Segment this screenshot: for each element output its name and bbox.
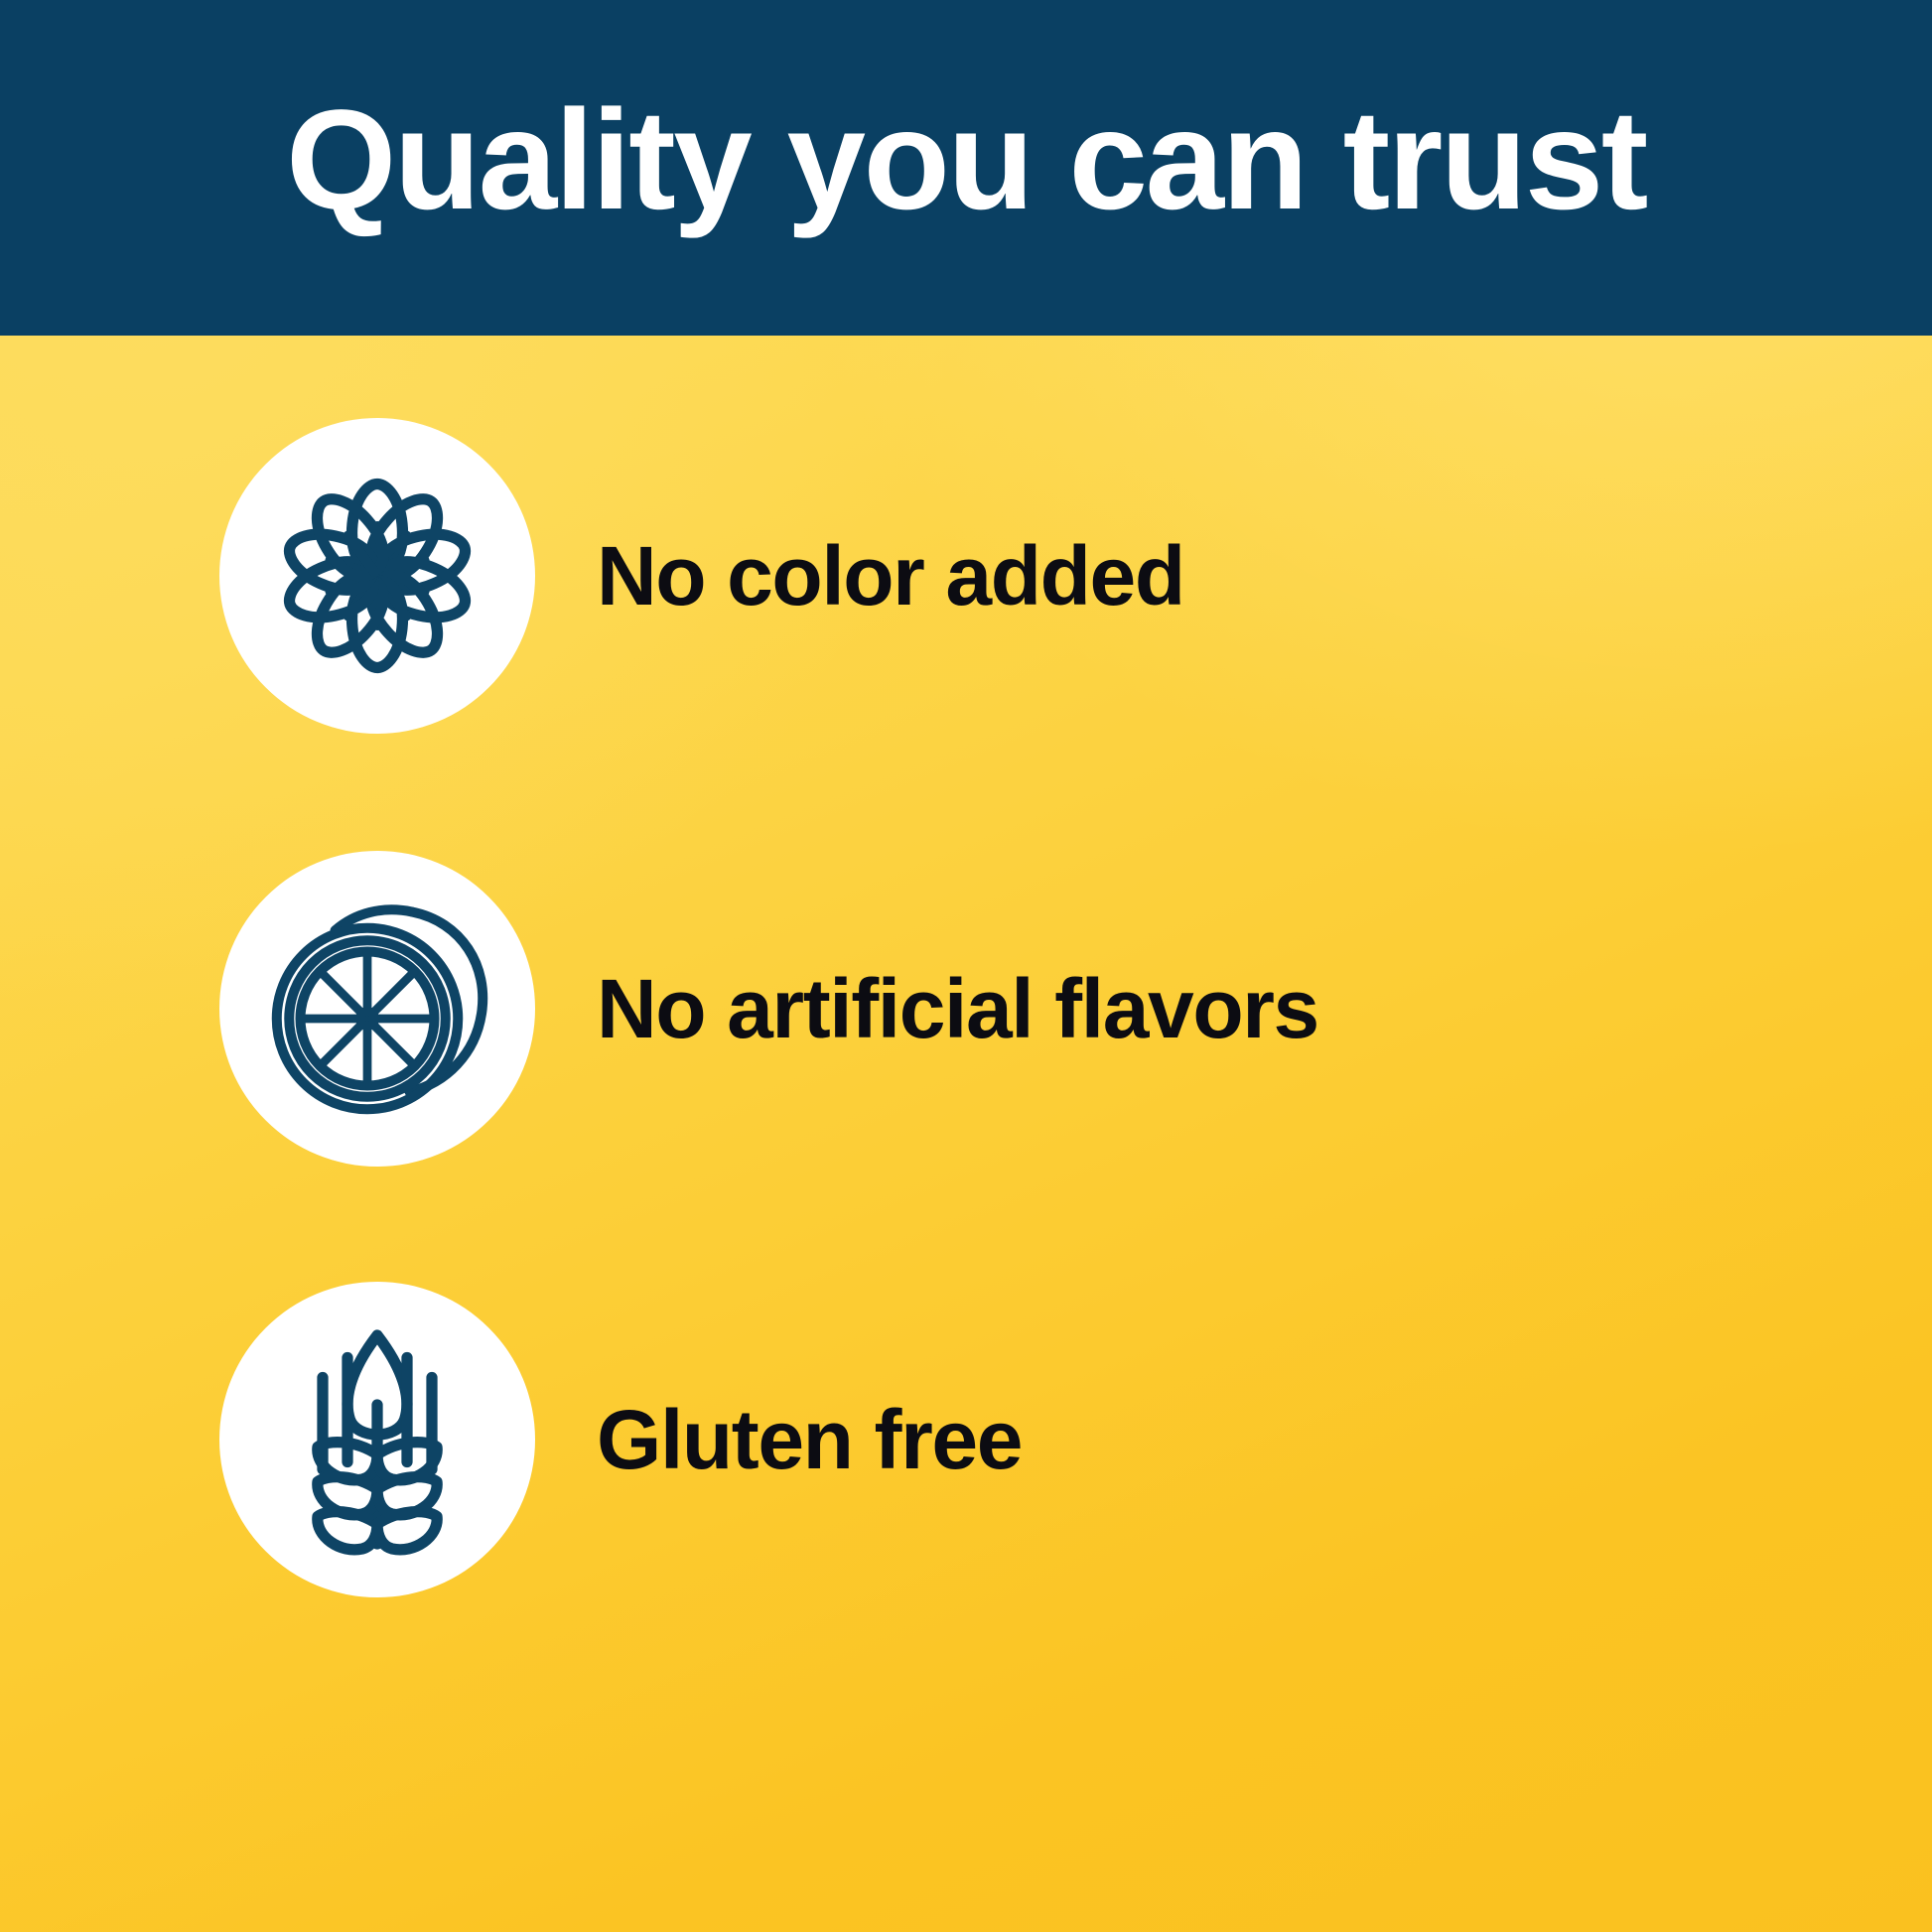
lemon-slice-icon [253, 885, 501, 1133]
feature-label: No artificial flavors [597, 967, 1318, 1050]
feature-icon-badge [219, 851, 535, 1167]
header-band: Quality you can trust [0, 0, 1932, 336]
feature-icon-badge [219, 418, 535, 734]
wheat-stalk-icon [253, 1315, 501, 1564]
feature-row: No artificial flavors [0, 810, 1932, 1207]
feature-list: No color added [0, 336, 1932, 1932]
feature-label: No color added [597, 534, 1184, 618]
feature-row: Gluten free [0, 1241, 1932, 1638]
radial-petals-icon [253, 452, 501, 700]
feature-icon-badge [219, 1282, 535, 1597]
feature-label: Gluten free [597, 1398, 1022, 1481]
feature-row: No color added [0, 377, 1932, 774]
page-title: Quality you can trust [286, 89, 1646, 231]
quality-you-can-trust-poster: Quality you can trust [0, 0, 1932, 1932]
